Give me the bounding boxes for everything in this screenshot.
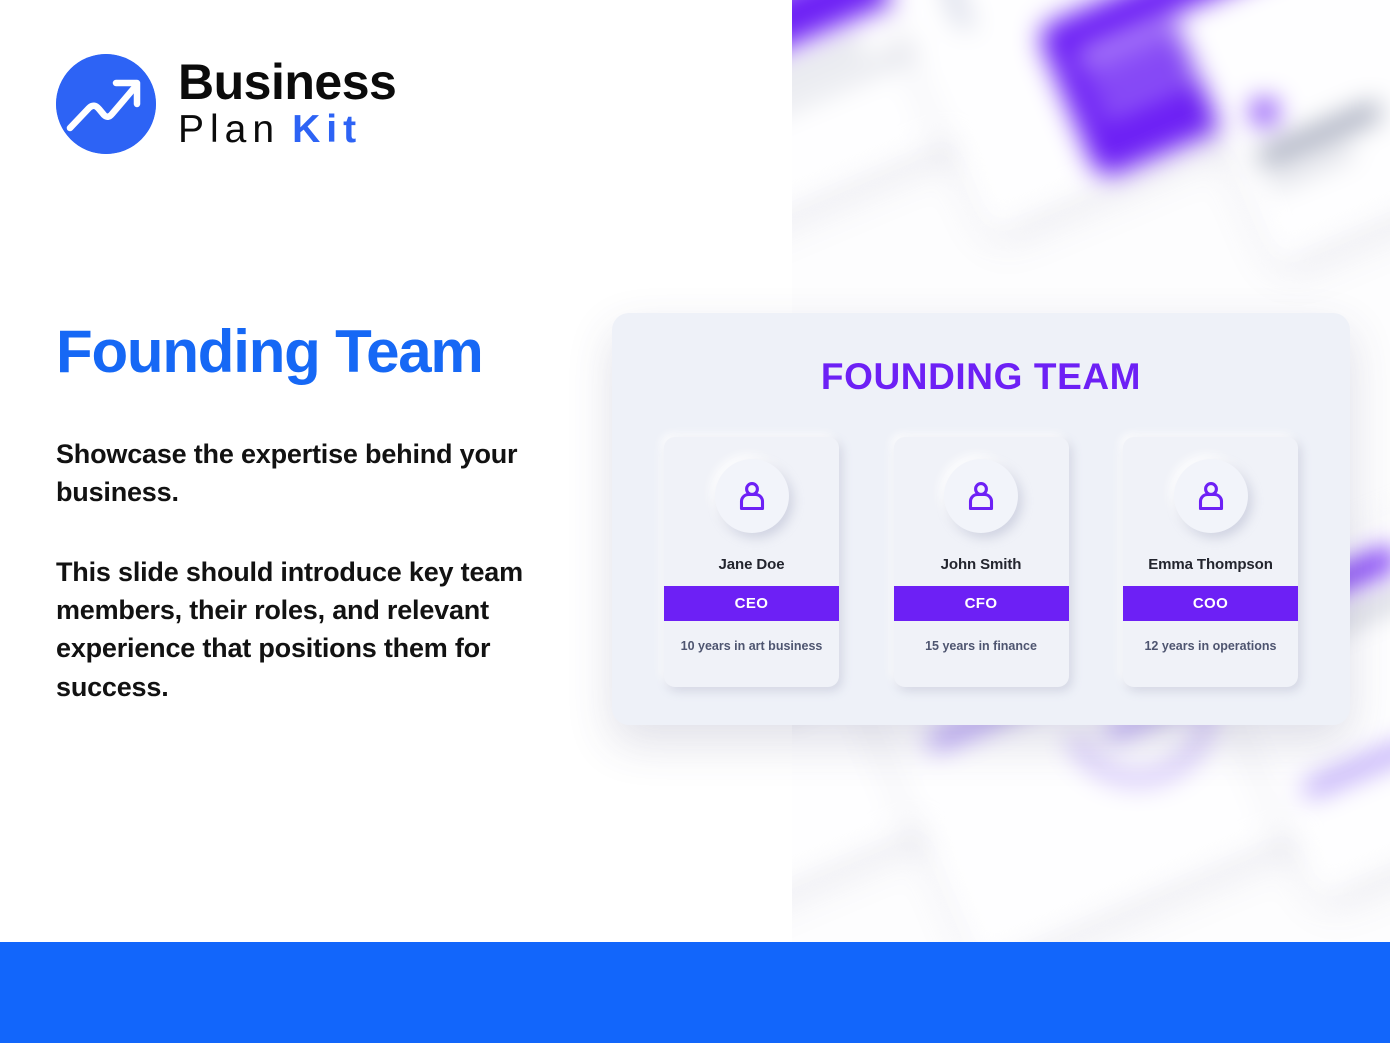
member-role-badge: CFO xyxy=(894,586,1069,621)
person-icon xyxy=(964,479,998,513)
member-name: Emma Thompson xyxy=(1148,557,1273,572)
description-paragraph-1: Showcase the expertise behind your busin… xyxy=(56,435,566,512)
member-experience: 12 years in operations xyxy=(1137,639,1283,655)
trending-up-arrow-icon xyxy=(56,54,156,154)
team-member-card[interactable]: Emma Thompson COO 12 years in operations xyxy=(1123,437,1298,687)
founding-team-slide-card[interactable]: FOUNDING TEAM Jane Doe CEO 10 years in a… xyxy=(612,313,1350,725)
brand-wordmark: Business PlanKit xyxy=(178,56,396,152)
brand-name-plan: Plan xyxy=(178,108,280,151)
footer-bar xyxy=(0,942,1390,1043)
brand-name-kit: Kit xyxy=(292,108,362,151)
brand-name-line1: Business xyxy=(178,58,396,107)
avatar xyxy=(944,459,1018,533)
team-member-card[interactable]: John Smith CFO 15 years in finance xyxy=(894,437,1069,687)
description-block: Showcase the expertise behind your busin… xyxy=(56,435,566,706)
brand-name-line2: PlanKit xyxy=(178,108,396,152)
avatar xyxy=(715,459,789,533)
person-icon xyxy=(735,479,769,513)
slide-title: FOUNDING TEAM xyxy=(664,358,1298,395)
team-member-list: Jane Doe CEO 10 years in art business Jo… xyxy=(664,437,1298,687)
member-experience: 15 years in finance xyxy=(918,639,1044,655)
member-role-badge: COO xyxy=(1123,586,1298,621)
member-name: Jane Doe xyxy=(719,557,785,572)
member-experience: 10 years in art business xyxy=(674,639,830,655)
team-member-card[interactable]: Jane Doe CEO 10 years in art business xyxy=(664,437,839,687)
member-name: John Smith xyxy=(941,557,1022,572)
avatar xyxy=(1174,459,1248,533)
member-role-badge: CEO xyxy=(664,586,839,621)
brand-logo[interactable]: Business PlanKit xyxy=(56,54,736,154)
person-icon xyxy=(1194,479,1228,513)
description-paragraph-2: This slide should introduce key team mem… xyxy=(56,553,566,706)
